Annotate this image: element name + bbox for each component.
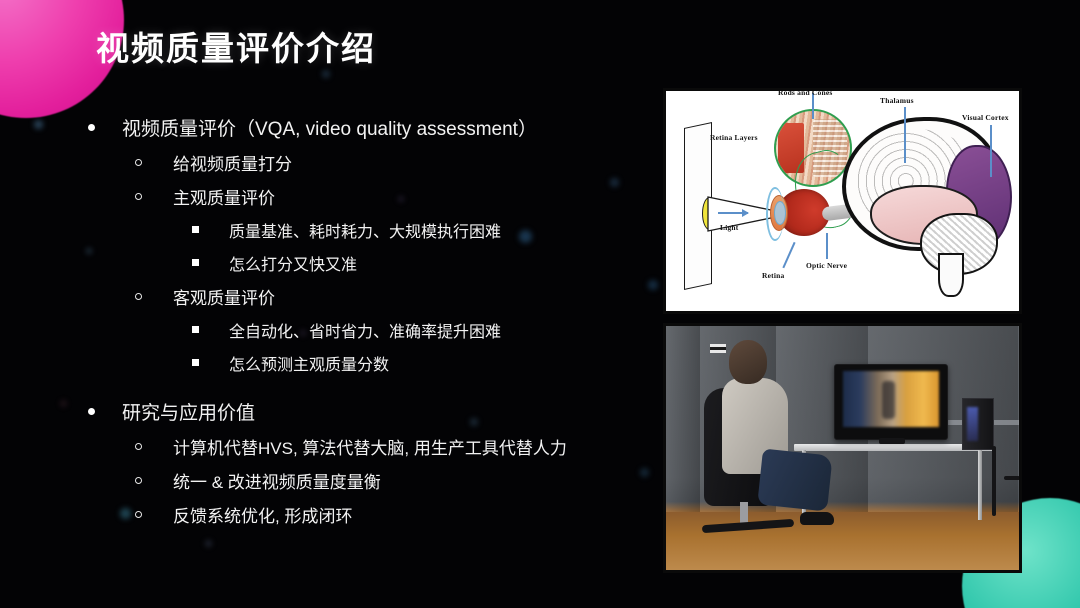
bullet-level3: 怎么打分又快又准 [88,251,648,275]
viewer-shoe [800,512,834,525]
bullet-circle-icon [135,439,173,459]
bullet-square-icon [192,324,229,342]
test-television [834,364,948,440]
cable [992,446,996,516]
bullet-disc-icon [88,403,122,425]
bullet-level1: 研究与应用价值 [88,398,648,425]
pc-tower-light [967,407,978,441]
bullet-circle-icon [135,473,173,493]
bullet-level2: 主观质量评价 [88,184,648,209]
label-retina-layers: Retina Layers [710,133,758,142]
door-sign [710,344,726,353]
tv-content-figure [882,381,895,419]
leader-visual-cortex [990,125,992,177]
bokeh-particle [322,70,330,78]
label-retina: Retina [762,271,784,280]
bullet-level3: 质量基准、耗时耗力、大规模执行困难 [88,218,648,242]
bullet-square-icon [192,357,229,375]
pc-tower [962,398,994,450]
bullet-text: 客观质量评价 [173,284,275,309]
label-thalamus: Thalamus [880,96,914,105]
leader-retina [782,242,795,268]
bullet-text: 视频质量评价（VQA, video quality assessment） [122,114,537,141]
floor [666,512,1019,570]
bullet-level3: 全自动化、省时省力、准确率提升困难 [88,318,648,342]
bullet-level3: 怎么预测主观质量分数 [88,351,648,375]
desk-leg [978,450,982,520]
bullet-text: 全自动化、省时省力、准确率提升困难 [229,318,501,342]
bullet-circle-icon [135,507,173,527]
photo-canvas [666,326,1019,570]
light-direction-arrow [718,212,748,214]
bullet-text: 主观质量评价 [173,184,275,209]
slide-root: 视频质量评价介绍 视频质量评价（VQA, video quality asses… [0,0,1080,608]
cable [1004,476,1020,480]
bullet-text: 给视频质量打分 [173,150,292,175]
bullet-disc-icon [88,119,122,141]
bullet-level2: 反馈系统优化, 形成闭环 [88,502,648,527]
bullet-text: 质量基准、耗时耗力、大规模执行困难 [229,218,501,242]
bullet-square-icon [192,224,229,242]
media-column: Light Rods and Cones Retina Layers Retin… [663,88,1022,573]
bullet-circle-icon [135,289,173,309]
wall-panel [666,326,700,518]
bullet-text: 统一 & 改进视频质量度量衡 [173,468,381,493]
bullet-text: 研究与应用价值 [122,398,255,425]
bullet-circle-icon [135,189,173,209]
viewer-head [729,340,767,384]
bullet-level2: 计算机代替HVS, 算法代替大脑, 用生产工具代替人力 [88,434,648,459]
sclera-ring-shape [766,187,784,241]
label-optic-nerve: Optic Nerve [806,261,847,270]
bokeh-particle [60,400,67,407]
section-spacer [88,384,648,398]
bullet-text: 计算机代替HVS, 算法代替大脑, 用生产工具代替人力 [173,434,567,459]
bokeh-particle [205,540,212,547]
bullet-text: 怎么打分又快又准 [229,251,357,275]
bullet-circle-icon [135,155,173,175]
bullet-text: 怎么预测主观质量分数 [229,351,389,375]
bokeh-particle [648,280,658,290]
tv-stand [879,438,905,444]
bullet-level2: 客观质量评价 [88,284,648,309]
brainstem-shape [938,253,964,297]
page-title: 视频质量评价介绍 [96,22,376,70]
bullet-square-icon [192,257,229,275]
leader-thalamus [904,107,906,163]
visual-system-diagram: Light Rods and Cones Retina Layers Retin… [663,88,1022,314]
brain-shape [842,117,1018,287]
label-rods-and-cones: Rods and Cones [778,88,832,97]
bullet-text: 反馈系统优化, 形成闭环 [173,502,352,527]
bullet-level2: 统一 & 改进视频质量度量衡 [88,468,648,493]
bullet-list: 视频质量评价（VQA, video quality assessment） 给视… [88,114,648,536]
label-visual-cortex: Visual Cortex [962,113,1009,122]
viewer-legs [757,448,832,511]
bullet-level2: 给视频质量打分 [88,150,648,175]
bullet-level1: 视频质量评价（VQA, video quality assessment） [88,114,648,141]
leader-optic-nerve [826,233,828,259]
diagram-canvas: Light Rods and Cones Retina Layers Retin… [666,91,1019,311]
label-light: Light [720,223,739,232]
subjective-test-photo [663,323,1022,573]
bokeh-particle [34,120,43,129]
